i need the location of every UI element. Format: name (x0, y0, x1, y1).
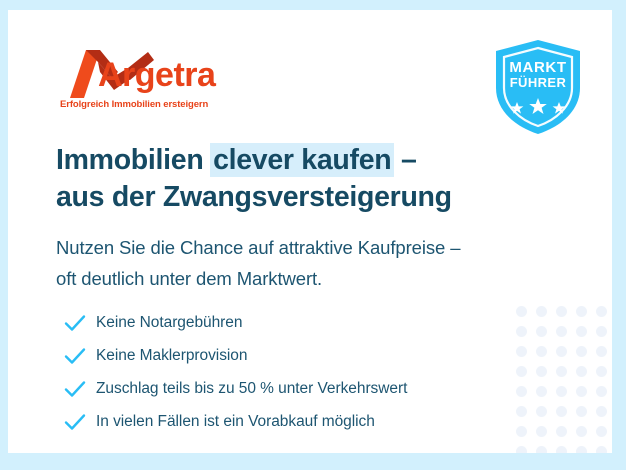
dot-grid-dot (596, 346, 607, 357)
dot-grid-dot (596, 446, 607, 453)
dot-grid-dot (536, 426, 547, 437)
check-icon (62, 409, 88, 435)
argetra-logo[interactable]: Argetra Erfolgreich Immobilien ersteiger… (56, 46, 236, 118)
list-item-label: In vielen Fällen ist ein Vorabkauf mögli… (96, 413, 375, 431)
dot-grid-dot (596, 386, 607, 397)
check-icon (62, 343, 88, 369)
dot-grid-dot (556, 406, 567, 417)
badge-stars (490, 98, 586, 121)
market-leader-badge: MARKT FÜHRER (490, 38, 586, 136)
dot-grid-dot (556, 446, 567, 453)
list-item-label: Zuschlag teils bis zu 50 % unter Verkehr… (96, 380, 407, 398)
banner-canvas: Argetra Erfolgreich Immobilien ersteiger… (8, 10, 612, 453)
dot-grid-dot (536, 306, 547, 317)
dot-grid-dot (576, 406, 587, 417)
dot-grid-dot (596, 306, 607, 317)
dot-grid-dot (556, 346, 567, 357)
dot-grid-dot (556, 326, 567, 337)
dot-grid-dot (536, 386, 547, 397)
headline-highlight: clever kaufen (210, 143, 394, 177)
dot-grid-dot (516, 446, 527, 453)
dot-grid-dot (536, 366, 547, 377)
list-item: In vielen Fällen ist ein Vorabkauf mögli… (62, 405, 532, 438)
subtitle: Nutzen Sie die Chance auf attraktive Kau… (56, 232, 576, 294)
dot-grid-dot (556, 386, 567, 397)
dot-grid-dot (596, 406, 607, 417)
dot-grid-dot (596, 326, 607, 337)
promo-banner: Argetra Erfolgreich Immobilien ersteiger… (0, 0, 626, 470)
dot-grid-dot (536, 346, 547, 357)
dot-grid-dot (556, 426, 567, 437)
headline-part-1: Immobilien (56, 144, 211, 176)
subtitle-line-1: Nutzen Sie die Chance auf attraktive Kau… (56, 237, 460, 258)
dot-grid-dot (576, 326, 587, 337)
dot-grid-dot (596, 366, 607, 377)
dot-grid-dot (556, 306, 567, 317)
list-item-label: Keine Maklerprovision (96, 347, 247, 365)
dot-grid-dot (596, 426, 607, 437)
dot-grid-dot (576, 446, 587, 453)
dot-grid-dot (576, 346, 587, 357)
list-item: Keine Maklerprovision (62, 339, 532, 372)
dot-grid-dot (576, 366, 587, 377)
logo-wordmark: Argetra (98, 58, 215, 92)
dot-grid-dot (576, 426, 587, 437)
dot-grid-dot (556, 366, 567, 377)
dot-grid-dot (536, 406, 547, 417)
subtitle-line-2: oft deutlich unter dem Marktwert. (56, 268, 322, 289)
list-item: Zuschlag teils bis zu 50 % unter Verkehr… (62, 372, 532, 405)
dot-grid-dot (536, 326, 547, 337)
shield-badge-icon (490, 38, 586, 136)
benefits-checklist: Keine Notargebühren Keine Maklerprovisio… (62, 306, 532, 438)
check-icon (62, 376, 88, 402)
three-stars-icon (507, 98, 569, 116)
list-item: Keine Notargebühren (62, 306, 532, 339)
check-icon (62, 310, 88, 336)
dot-grid-dot (576, 386, 587, 397)
headline-line-2: aus der Zwangsversteigerung (56, 181, 452, 213)
list-item-label: Keine Notargebühren (96, 314, 242, 332)
logo-tagline: Erfolgreich Immobilien ersteigern (60, 99, 208, 110)
dot-grid-dot (576, 306, 587, 317)
headline-part-2: – (393, 144, 416, 176)
page-title: Immobilien clever kaufen – aus der Zwang… (56, 142, 576, 216)
dot-grid-dot (536, 446, 547, 453)
